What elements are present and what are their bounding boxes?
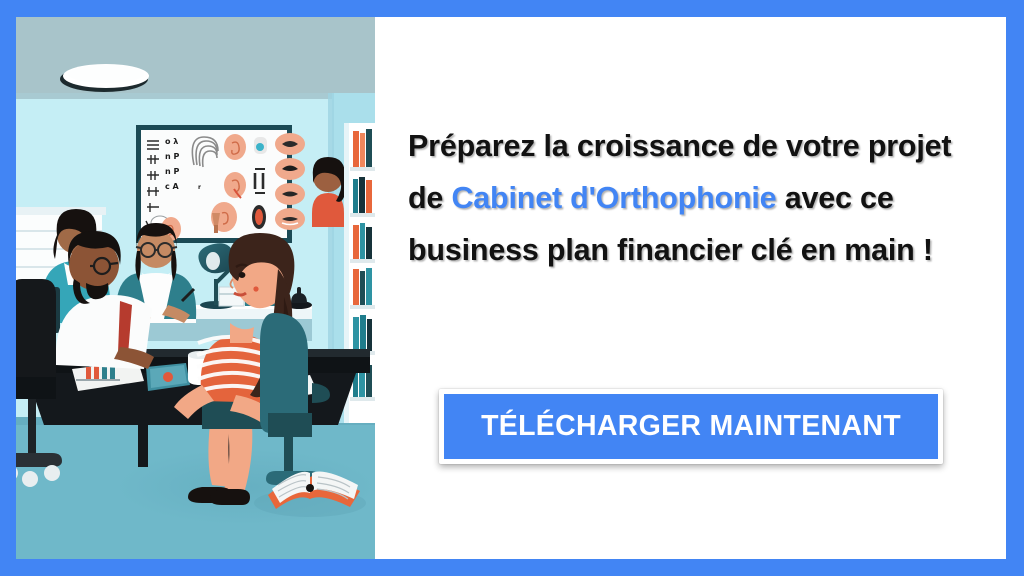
svg-text:o λ: o λ bbox=[165, 137, 178, 146]
svg-text:n P: n P bbox=[165, 167, 179, 176]
headline-line-1: Préparez la croissance de votre bbox=[408, 129, 860, 163]
svg-text:n P: n P bbox=[165, 152, 179, 161]
headline-brand: Cabinet d'Orthophonie bbox=[451, 181, 776, 215]
office-scene-illustration: o λ n P n P c A r bbox=[16, 17, 375, 559]
ad-banner: o λ n P n P c A r bbox=[0, 0, 1024, 576]
ceiling-light bbox=[60, 64, 149, 92]
banner-inner: o λ n P n P c A r bbox=[16, 17, 1006, 559]
headline-line-4: en main ! bbox=[801, 233, 933, 267]
page-title: Préparez la croissance de votre projet d… bbox=[408, 120, 993, 276]
illustration-panel: o λ n P n P c A r bbox=[16, 17, 375, 559]
svg-text:r: r bbox=[198, 184, 201, 191]
copy-panel: Préparez la croissance de votre projet d… bbox=[375, 17, 1006, 559]
download-now-button[interactable]: TÉLÉCHARGER MAINTENANT bbox=[439, 389, 943, 464]
office-chair-left bbox=[16, 279, 62, 487]
svg-text:c A: c A bbox=[165, 182, 180, 191]
